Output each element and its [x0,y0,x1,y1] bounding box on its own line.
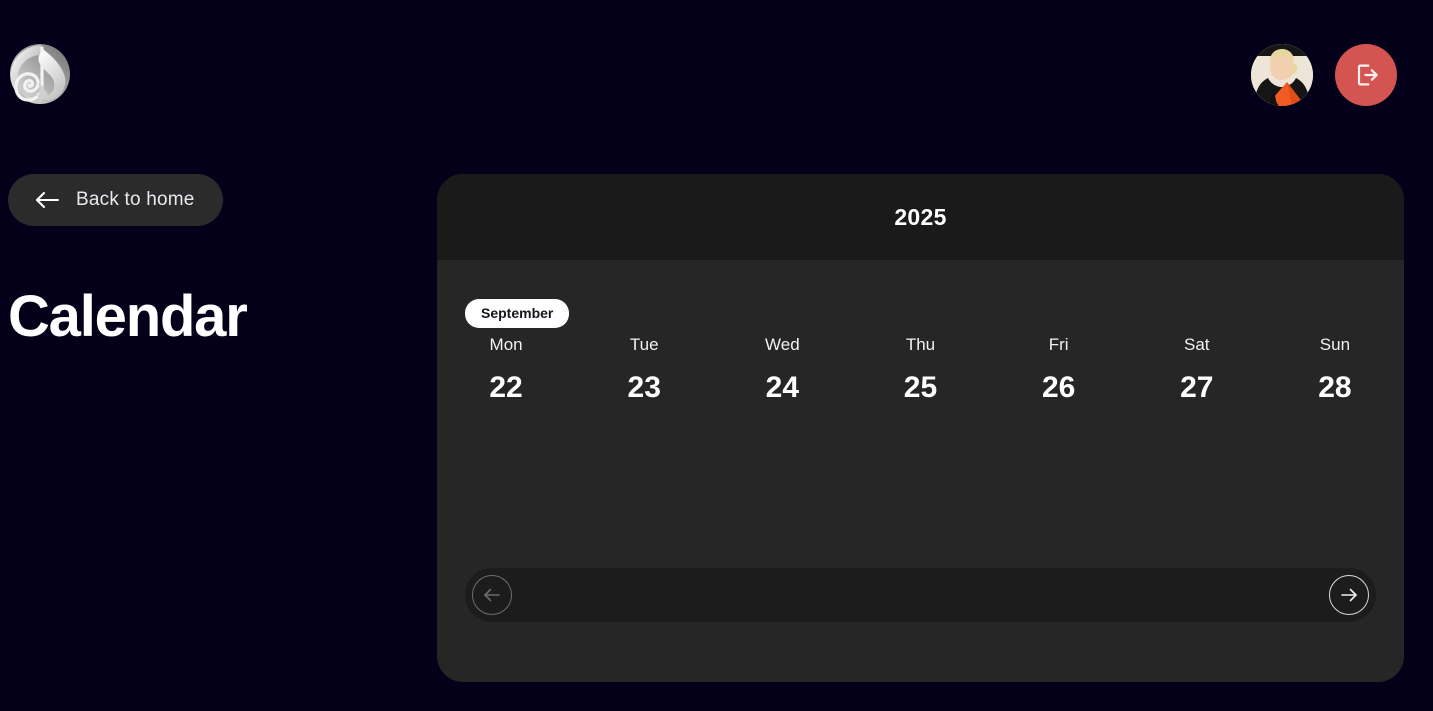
week-days-row: Mon 22 Tue 23 Wed 24 Thu 25 Fri 26 Sat [437,336,1404,403]
day-name: Thu [851,336,989,353]
arrow-left-icon [34,190,60,210]
day-column[interactable]: Mon 22 [437,336,575,403]
day-name: Tue [575,336,713,353]
month-badge[interactable]: September [465,299,569,328]
week-pager [465,568,1376,622]
day-column[interactable]: Tue 23 [575,336,713,403]
day-number: 27 [1128,373,1266,403]
calendar-body: September Mon 22 Tue 23 Wed 24 Thu 25 Fr… [437,260,1404,682]
day-column[interactable]: Sat 27 [1128,336,1266,403]
previous-week-button[interactable] [472,575,512,615]
day-name: Mon [437,336,575,353]
day-number: 22 [437,373,575,403]
day-name: Fri [990,336,1128,353]
top-bar [0,0,1433,150]
page-title: Calendar [8,288,437,346]
day-number: 26 [990,373,1128,403]
arrow-left-icon [482,587,502,603]
day-column[interactable]: Fri 26 [990,336,1128,403]
back-to-home-label: Back to home [76,189,195,211]
back-to-home-button[interactable]: Back to home [8,174,223,226]
day-column[interactable]: Sun 28 [1266,336,1404,403]
arrow-right-icon [1339,587,1359,603]
day-number: 25 [851,373,989,403]
logout-icon [1352,61,1380,89]
day-number: 28 [1266,373,1404,403]
topbar-actions [1251,44,1397,106]
calendar-header: 2025 [437,174,1404,260]
day-column[interactable]: Thu 25 [851,336,989,403]
day-name: Wed [713,336,851,353]
next-week-button[interactable] [1329,575,1369,615]
avatar[interactable] [1251,44,1313,106]
brand-logo-icon[interactable] [8,42,72,106]
calendar-year-label: 2025 [894,204,946,231]
calendar-card: 2025 September Mon 22 Tue 23 Wed 24 Thu … [437,174,1404,682]
day-column[interactable]: Wed 24 [713,336,851,403]
left-column: Back to home Calendar [0,174,437,346]
day-number: 24 [713,373,851,403]
logout-button[interactable] [1335,44,1397,106]
day-name: Sun [1266,336,1404,353]
day-name: Sat [1128,336,1266,353]
day-number: 23 [575,373,713,403]
